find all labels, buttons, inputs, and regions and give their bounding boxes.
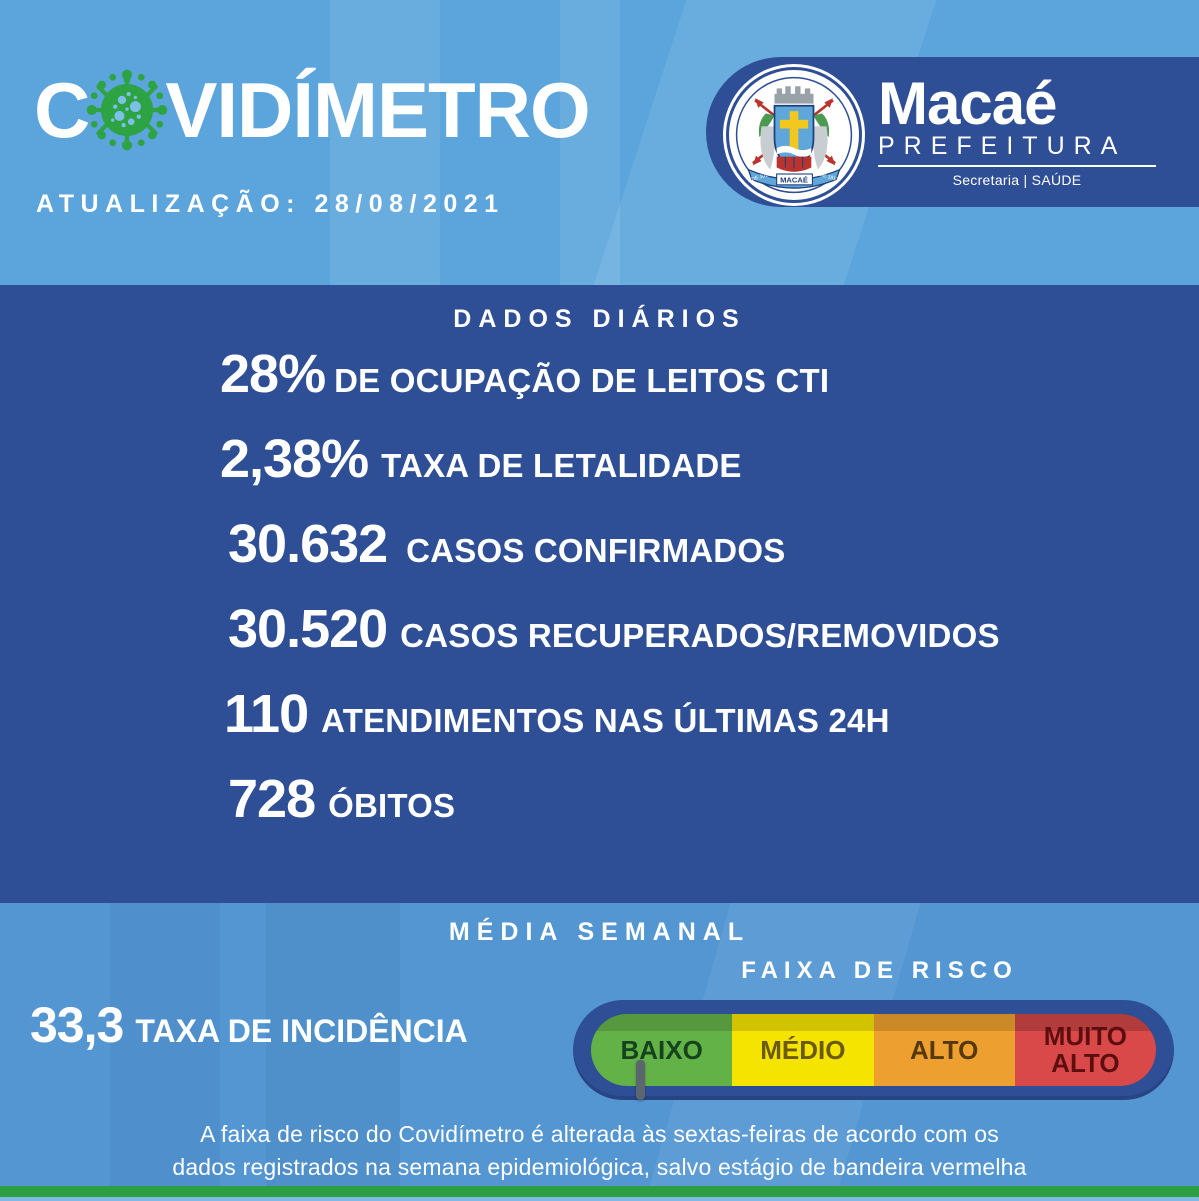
stat-label: DE OCUPAÇÃO DE LEITOS CTI xyxy=(334,364,829,397)
weekly-section-title: MÉDIA SEMANAL xyxy=(0,918,1199,947)
last-update-label: ATUALIZAÇÃO: 28/08/2021 xyxy=(36,190,505,219)
incidence-value: 33,3 xyxy=(30,1000,123,1050)
stat-value: 28% xyxy=(220,347,325,401)
incidence-label: TAXA DE INCIDÊNCIA xyxy=(135,1015,467,1047)
covidimeter-logo: C xyxy=(34,68,590,152)
stat-row: 728 ÓBITOS xyxy=(220,772,1180,826)
logo-text-prefix: C xyxy=(34,71,89,149)
risk-section-title: FAIXA DE RISCO xyxy=(560,957,1199,985)
footer-note: A faixa de risco do Covidímetro é altera… xyxy=(0,1118,1199,1183)
covidimeter-infographic: C xyxy=(0,0,1199,1201)
stat-label: TAXA DE LETALIDADE xyxy=(381,449,741,482)
logo-text-suffix: VIDÍMETRO xyxy=(165,71,589,149)
stat-value: 728 xyxy=(228,772,315,826)
risk-level-alto[interactable]: ALTO xyxy=(874,1014,1015,1086)
risk-level-baixo[interactable]: BAIXO xyxy=(591,1014,732,1086)
risk-level-label: BAIXO xyxy=(620,1037,702,1064)
daily-section-title: DADOS DIÁRIOS xyxy=(0,305,1199,334)
stat-value: 30.632 xyxy=(228,517,387,571)
stat-label: CASOS RECUPERADOS/REMOVIDOS xyxy=(400,619,999,652)
city-name: Macaé xyxy=(878,75,1156,132)
stat-label: CASOS CONFIRMADOS xyxy=(406,534,785,567)
footer-line-2: dados registrados na semana epidemiológi… xyxy=(0,1151,1199,1184)
stat-row: 110 ATENDIMENTOS NAS ÚLTIMAS 24H xyxy=(220,687,1180,741)
department-name: Secretaria | SAÚDE xyxy=(878,172,1156,188)
stat-value: 2,38% xyxy=(220,432,368,486)
entity-name: PREFEITURA xyxy=(878,132,1156,167)
prefeitura-brand: Macaé PREFEITURA Secretaria | SAÚDE xyxy=(878,75,1156,188)
svg-text:MACAÉ: MACAÉ xyxy=(780,176,808,185)
footer-line-1: A faixa de risco do Covidímetro é altera… xyxy=(0,1118,1199,1151)
daily-stats-list: 28% DE OCUPAÇÃO DE LEITOS CTI 2,38% TAXA… xyxy=(220,347,1180,857)
stat-value: 110 xyxy=(224,687,308,741)
coronavirus-icon xyxy=(85,68,169,152)
stat-row: 30.520 CASOS RECUPERADOS/REMOVIDOS xyxy=(220,602,1180,656)
risk-gauge-track: BAIXO MÉDIO ALTO MUITOALTO xyxy=(591,1014,1156,1086)
risk-level-medio[interactable]: MÉDIO xyxy=(732,1014,873,1086)
header: C xyxy=(0,0,1199,285)
stat-row: 28% DE OCUPAÇÃO DE LEITOS CTI xyxy=(220,347,1180,401)
risk-level-label: MUITOALTO xyxy=(1044,1023,1127,1076)
stat-label: ÓBITOS xyxy=(328,789,455,822)
risk-level-muito-alto[interactable]: MUITOALTO xyxy=(1015,1014,1156,1086)
stat-row: 30.632 CASOS CONFIRMADOS xyxy=(220,517,1180,571)
macae-coat-of-arms-icon: MACAÉ 29 DE JULHO DE 1813 xyxy=(726,67,862,203)
prefeitura-plaque: MACAÉ 29 DE JULHO DE 1813 Macaé PREFEITU… xyxy=(706,57,1199,207)
risk-gauge: BAIXO MÉDIO ALTO MUITOALTO xyxy=(573,1000,1174,1100)
bottom-accent-bar xyxy=(0,1197,1199,1201)
stat-value: 30.520 xyxy=(228,602,387,656)
gauge-needle-icon xyxy=(636,1060,645,1100)
risk-level-label: ALTO xyxy=(910,1037,978,1064)
incidence-stat: 33,3 TAXA DE INCIDÊNCIA xyxy=(30,1000,468,1050)
stat-label: ATENDIMENTOS NAS ÚLTIMAS 24H xyxy=(321,704,889,737)
risk-level-label: MÉDIO xyxy=(760,1037,845,1064)
green-accent-bar xyxy=(0,1186,1199,1197)
stat-row: 2,38% TAXA DE LETALIDADE xyxy=(220,432,1180,486)
